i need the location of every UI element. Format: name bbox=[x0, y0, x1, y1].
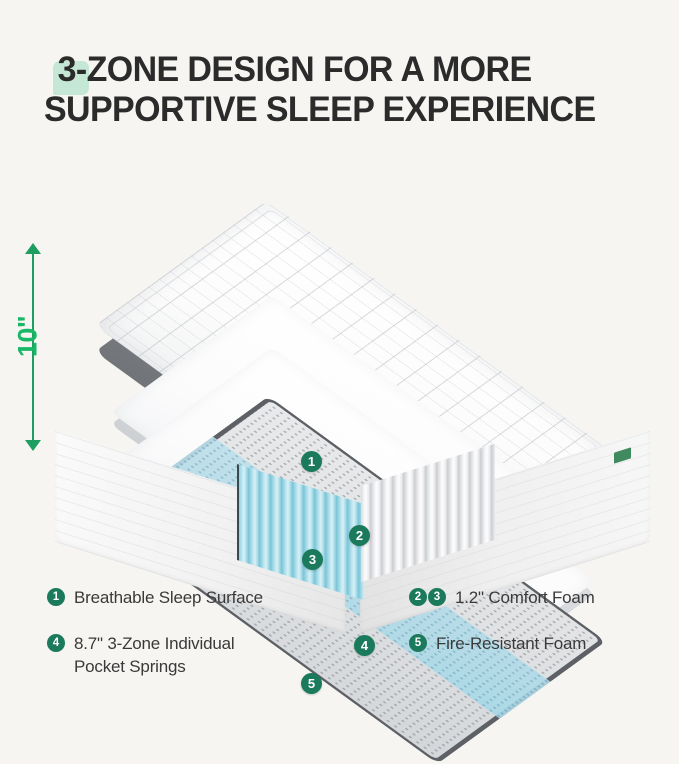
legend: 1 Breathable Sleep Surface 4 8.7" 3-Zone… bbox=[0, 586, 679, 686]
headline: 3-ZONE DESIGN FOR A MORE SUPPORTIVE SLEE… bbox=[44, 50, 664, 130]
diagram-badge-5: 5 bbox=[301, 673, 322, 694]
legend-item-label: Fire-Resistant Foam bbox=[436, 632, 586, 655]
legend-badge-4: 4 bbox=[47, 634, 65, 652]
arrow-down-icon bbox=[25, 440, 41, 451]
diagram-badge-4: 4 bbox=[354, 635, 375, 656]
legend-column-right: 2 3 1.2" Comfort Foam 5 Fire-Resistant F… bbox=[409, 586, 674, 678]
exploded-mattress-diagram: 1 2 3 4 5 bbox=[40, 178, 665, 553]
diagram-badge-3: 3 bbox=[302, 549, 323, 570]
diagram-badge-1: 1 bbox=[301, 451, 322, 472]
legend-badge-2: 2 bbox=[409, 588, 427, 606]
legend-item-label: 8.7" 3-Zone Individual Pocket Springs bbox=[74, 632, 234, 678]
legend-badge-group: 2 3 bbox=[409, 588, 447, 606]
headline-line-2: SUPPORTIVE SLEEP EXPERIENCE bbox=[44, 90, 645, 130]
legend-badge-group: 1 bbox=[47, 588, 66, 606]
legend-item-label: Breathable Sleep Surface bbox=[74, 586, 263, 609]
legend-item-label: 1.2" Comfort Foam bbox=[455, 586, 595, 609]
legend-item: 1 Breathable Sleep Surface bbox=[47, 586, 347, 609]
diagram-badge-2: 2 bbox=[349, 525, 370, 546]
dimension-label: 10" bbox=[13, 309, 44, 365]
headline-line-1: 3-ZONE DESIGN FOR A MORE bbox=[44, 50, 645, 90]
legend-badge-3: 3 bbox=[428, 588, 446, 606]
legend-item: 2 3 1.2" Comfort Foam bbox=[409, 586, 674, 609]
legend-badge-group: 4 bbox=[47, 634, 66, 652]
legend-badge-group: 5 bbox=[409, 634, 428, 652]
legend-item: 4 8.7" 3-Zone Individual Pocket Springs bbox=[47, 632, 347, 678]
legend-item: 5 Fire-Resistant Foam bbox=[409, 632, 674, 655]
legend-badge-5: 5 bbox=[409, 634, 427, 652]
legend-badge-1: 1 bbox=[47, 588, 65, 606]
